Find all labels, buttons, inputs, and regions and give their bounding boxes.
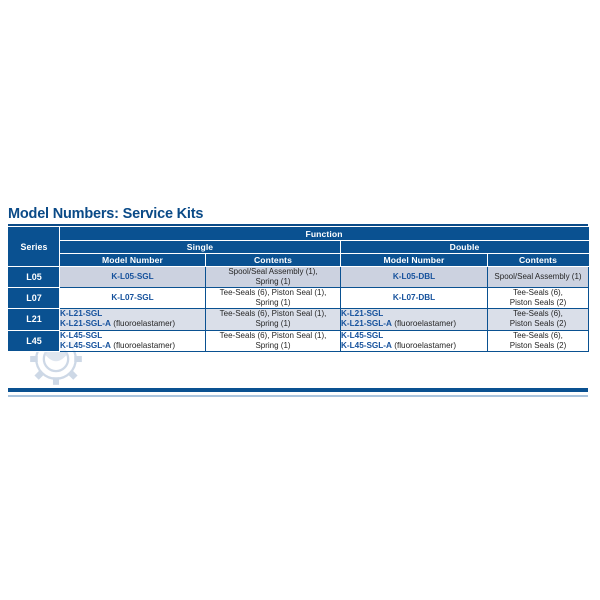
model-alternate-note: (fluoroelastamer) [111,319,175,328]
model-alternate-note: (fluoroelastamer) [111,341,175,350]
table-row: L45 K-L45-SGL K-L45-SGL-A (fluoroelastam… [9,330,589,352]
cell-single-contents-l07: Tee-Seals (6), Piston Seal (1), Spring (… [206,288,341,309]
cell-double-model-l07: K-L07-DBL [341,288,488,309]
footer-accent-bar [8,388,588,392]
cell-double-contents-l05: Spool/Seal Assembly (1) [488,267,589,288]
model-alternate: K-L21-SGL-A (fluoroelastamer) [60,319,205,329]
model-alternate-note: (fluoroelastamer) [392,341,456,350]
header-double-model-number: Model Number [341,254,488,267]
row-series-l21: L21 [9,309,60,331]
header-single-contents: Contents [206,254,341,267]
cell-single-contents-l21: Tee-Seals (6), Piston Seal (1), Spring (… [206,309,341,331]
service-kits-table: Series Function Single Double Model Numb… [8,227,589,352]
model-primary: K-L45-SGL [60,331,205,341]
cell-double-contents-l07: Tee-Seals (6), Piston Seals (2) [488,288,589,309]
header-double-contents: Contents [488,254,589,267]
header-group-single: Single [60,241,341,254]
model-primary: K-L21-SGL [60,309,205,319]
table-row: L21 K-L21-SGL K-L21-SGL-A (fluoroelastam… [9,309,589,331]
row-series-l45: L45 [9,330,60,352]
header-series: Series [9,228,60,267]
cell-single-model-l05: K-L05-SGL [60,267,206,288]
cell-double-contents-l45: Tee-Seals (6), Piston Seals (2) [488,330,589,352]
cell-single-contents-l45: Tee-Seals (6), Piston Seal (1), Spring (… [206,330,341,352]
cell-single-contents-l05: Spool/Seal Assembly (1), Spring (1) [206,267,341,288]
header-group-double: Double [341,241,589,254]
model-alternate: K-L45-SGL-A (fluoroelastamer) [341,341,487,351]
cell-single-model-l45: K-L45-SGL K-L45-SGL-A (fluoroelastamer) [60,330,206,352]
table-header-row-columns: Model Number Contents Model Number Conte… [9,254,589,267]
cell-double-model-l05: K-L05-DBL [341,267,488,288]
spec-sheet: Model Numbers: Service Kits Series Funct… [0,0,600,600]
model-alternate: K-L21-SGL-A (fluoroelastamer) [341,319,487,329]
table-header-row-groups: Single Double [9,241,589,254]
row-series-l07: L07 [9,288,60,309]
cell-single-model-l21: K-L21-SGL K-L21-SGL-A (fluoroelastamer) [60,309,206,331]
cell-single-model-l07: K-L07-SGL [60,288,206,309]
model-alternate: K-L45-SGL-A (fluoroelastamer) [60,341,205,351]
table-row: L05 K-L05-SGL Spool/Seal Assembly (1), S… [9,267,589,288]
header-function: Function [60,228,589,241]
cell-double-model-l21: K-L21-SGL K-L21-SGL-A (fluoroelastamer) [341,309,488,331]
table-row: L07 K-L07-SGL Tee-Seals (6), Piston Seal… [9,288,589,309]
model-alternate-note: (fluoroelastamer) [392,319,456,328]
table-header-row-function: Series Function [9,228,589,241]
model-primary: K-L21-SGL [341,309,487,319]
page-title: Model Numbers: Service Kits [8,206,203,222]
cell-double-model-l45: K-L45-SGL K-L45-SGL-A (fluoroelastamer) [341,330,488,352]
cell-double-contents-l21: Tee-Seals (6), Piston Seals (2) [488,309,589,331]
row-series-l05: L05 [9,267,60,288]
model-primary: K-L45-SGL [341,331,487,341]
title-underline [8,224,588,226]
footer-thin-rule [8,395,588,397]
header-single-model-number: Model Number [60,254,206,267]
